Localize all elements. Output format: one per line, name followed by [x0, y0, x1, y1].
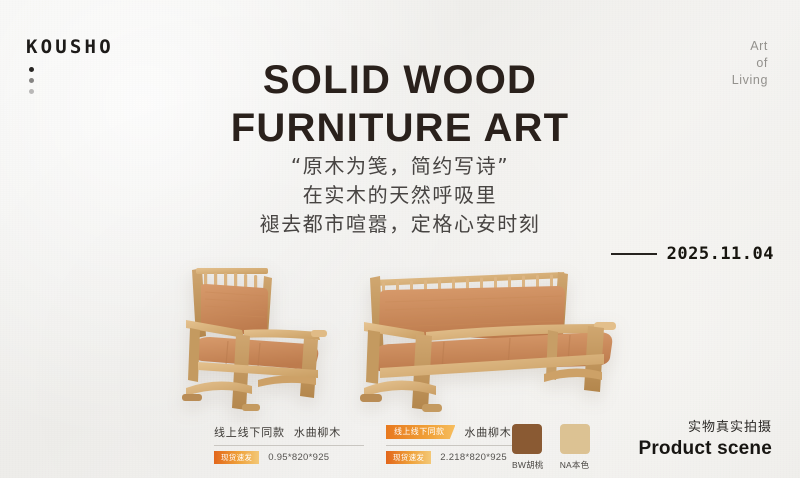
headline: SOLID WOOD FURNITURE ART: [0, 56, 800, 152]
product-title: 线上线下同款: [214, 424, 285, 440]
subcopy-line3: 褪去都市喧嚣，定格心安时刻: [0, 210, 800, 239]
bottom-white-band: [0, 478, 800, 500]
swatch-label: NA本色: [560, 459, 590, 471]
product-dimensions: 2.218*820*925: [440, 452, 507, 463]
caption-divider: [214, 445, 364, 446]
headline-line2: FURNITURE ART: [0, 104, 800, 152]
product-photo-sofa: [352, 262, 642, 420]
color-swatch-group: BW胡桃 NA本色: [512, 424, 590, 471]
product-title-ribbon: 线上线下同款: [386, 425, 455, 439]
subcopy-line2: 在实木的天然呼吸里: [0, 181, 800, 210]
swatch-chip-walnut[interactable]: [512, 424, 542, 454]
date-rule-decoration: [611, 253, 657, 255]
date-block: 2025.11.04: [611, 244, 774, 264]
color-swatch[interactable]: BW胡桃: [512, 424, 544, 471]
color-swatch[interactable]: NA本色: [560, 424, 590, 471]
product-caption-armchair: 线上线下同款 水曲柳木 现货速发 0.95*820*925: [214, 424, 374, 464]
poster-canvas: KOUSHO Art of Living SOLID WOOD FURNITUR…: [0, 0, 800, 478]
product-badge: 现货速发: [214, 451, 259, 464]
swatch-chip-natural[interactable]: [560, 424, 590, 454]
product-material: 水曲柳木: [464, 424, 511, 440]
product-scene-cn: 实物真实拍摄: [638, 418, 772, 436]
product-badge: 现货速发: [386, 451, 431, 464]
product-dimensions: 0.95*820*925: [268, 452, 329, 463]
product-photo-armchair: [168, 258, 348, 423]
product-material: 水曲柳木: [294, 424, 341, 440]
subcopy: “原木为笺，简约写诗” 在实木的天然呼吸里 褪去都市喧嚣，定格心安时刻: [0, 152, 800, 239]
product-scene-en: Product scene: [638, 437, 772, 461]
product-scene-block: 实物真实拍摄 Product scene: [638, 418, 772, 461]
swatch-label: BW胡桃: [512, 459, 544, 471]
corner-tagline-line1: Art: [732, 38, 768, 55]
subcopy-line1: “原木为笺，简约写诗”: [0, 152, 800, 181]
caption-title-row: 线上线下同款 水曲柳木: [214, 424, 374, 440]
brand-name: KOUSHO: [26, 36, 114, 58]
headline-line1: SOLID WOOD: [0, 56, 800, 104]
caption-spec-row: 现货速发 0.95*820*925: [214, 451, 374, 464]
date-value: 2025.11.04: [667, 244, 774, 264]
